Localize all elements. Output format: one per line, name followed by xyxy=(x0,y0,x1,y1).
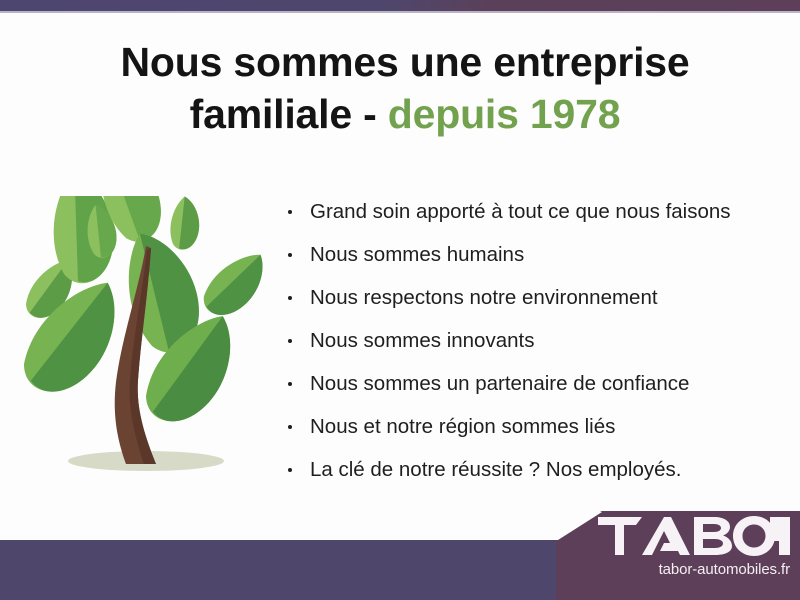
tree-illustration xyxy=(18,196,270,486)
list-item-label: Nous respectons notre environnement xyxy=(310,286,658,309)
top-accent-bar-edge xyxy=(0,11,800,13)
bullet-dot-icon xyxy=(288,253,292,257)
bullet-dot-icon xyxy=(288,296,292,300)
value-bullet-list: Grand soin apporté à tout ce que nous fa… xyxy=(286,190,756,491)
bullet-dot-icon xyxy=(288,425,292,429)
headline-line-2: familiale - depuis 1978 xyxy=(60,88,750,140)
headline-accent-year: depuis 1978 xyxy=(388,91,621,137)
leaf-right-outer xyxy=(196,253,270,319)
bullet-dot-icon xyxy=(288,339,292,343)
list-item-label: Nous sommes innovants xyxy=(310,329,534,352)
list-item-label: Nous sommes humains xyxy=(310,243,524,266)
headline-line-2-plain: familiale - xyxy=(190,91,377,137)
list-item: Nous sommes humains xyxy=(286,233,756,276)
list-item: Nous sommes un partenaire de confiance xyxy=(286,362,756,405)
list-item: Grand soin apporté à tout ce que nous fa… xyxy=(286,190,756,233)
list-item: Nous sommes innovants xyxy=(286,319,756,362)
page-title: Nous sommes une entreprise familiale - d… xyxy=(60,36,750,140)
slide-canvas: Nous sommes une entreprise familiale - d… xyxy=(0,0,800,600)
list-item: Nous respectons notre environnement xyxy=(286,276,756,319)
headline-line-1: Nous sommes une entreprise xyxy=(121,39,690,85)
bullet-dot-icon xyxy=(288,382,292,386)
list-item-label: Nous et notre région sommes liés xyxy=(310,415,615,438)
list-item-label: Nous sommes un partenaire de confiance xyxy=(310,372,689,395)
list-item-label: Grand soin apporté à tout ce que nous fa… xyxy=(310,200,731,223)
bullet-dot-icon xyxy=(288,210,292,214)
bullet-dot-icon xyxy=(288,468,292,472)
list-item-label: La clé de notre réussite ? Nos employés. xyxy=(310,458,681,481)
list-item: Nous et notre région sommes liés xyxy=(286,405,756,448)
tabor-logo[interactable] xyxy=(598,516,790,556)
logo-tagline[interactable]: tabor-automobiles.fr xyxy=(598,561,790,578)
bottom-accent-bar xyxy=(0,540,600,600)
top-accent-bar xyxy=(0,0,800,11)
list-item: La clé de notre réussite ? Nos employés. xyxy=(286,448,756,491)
